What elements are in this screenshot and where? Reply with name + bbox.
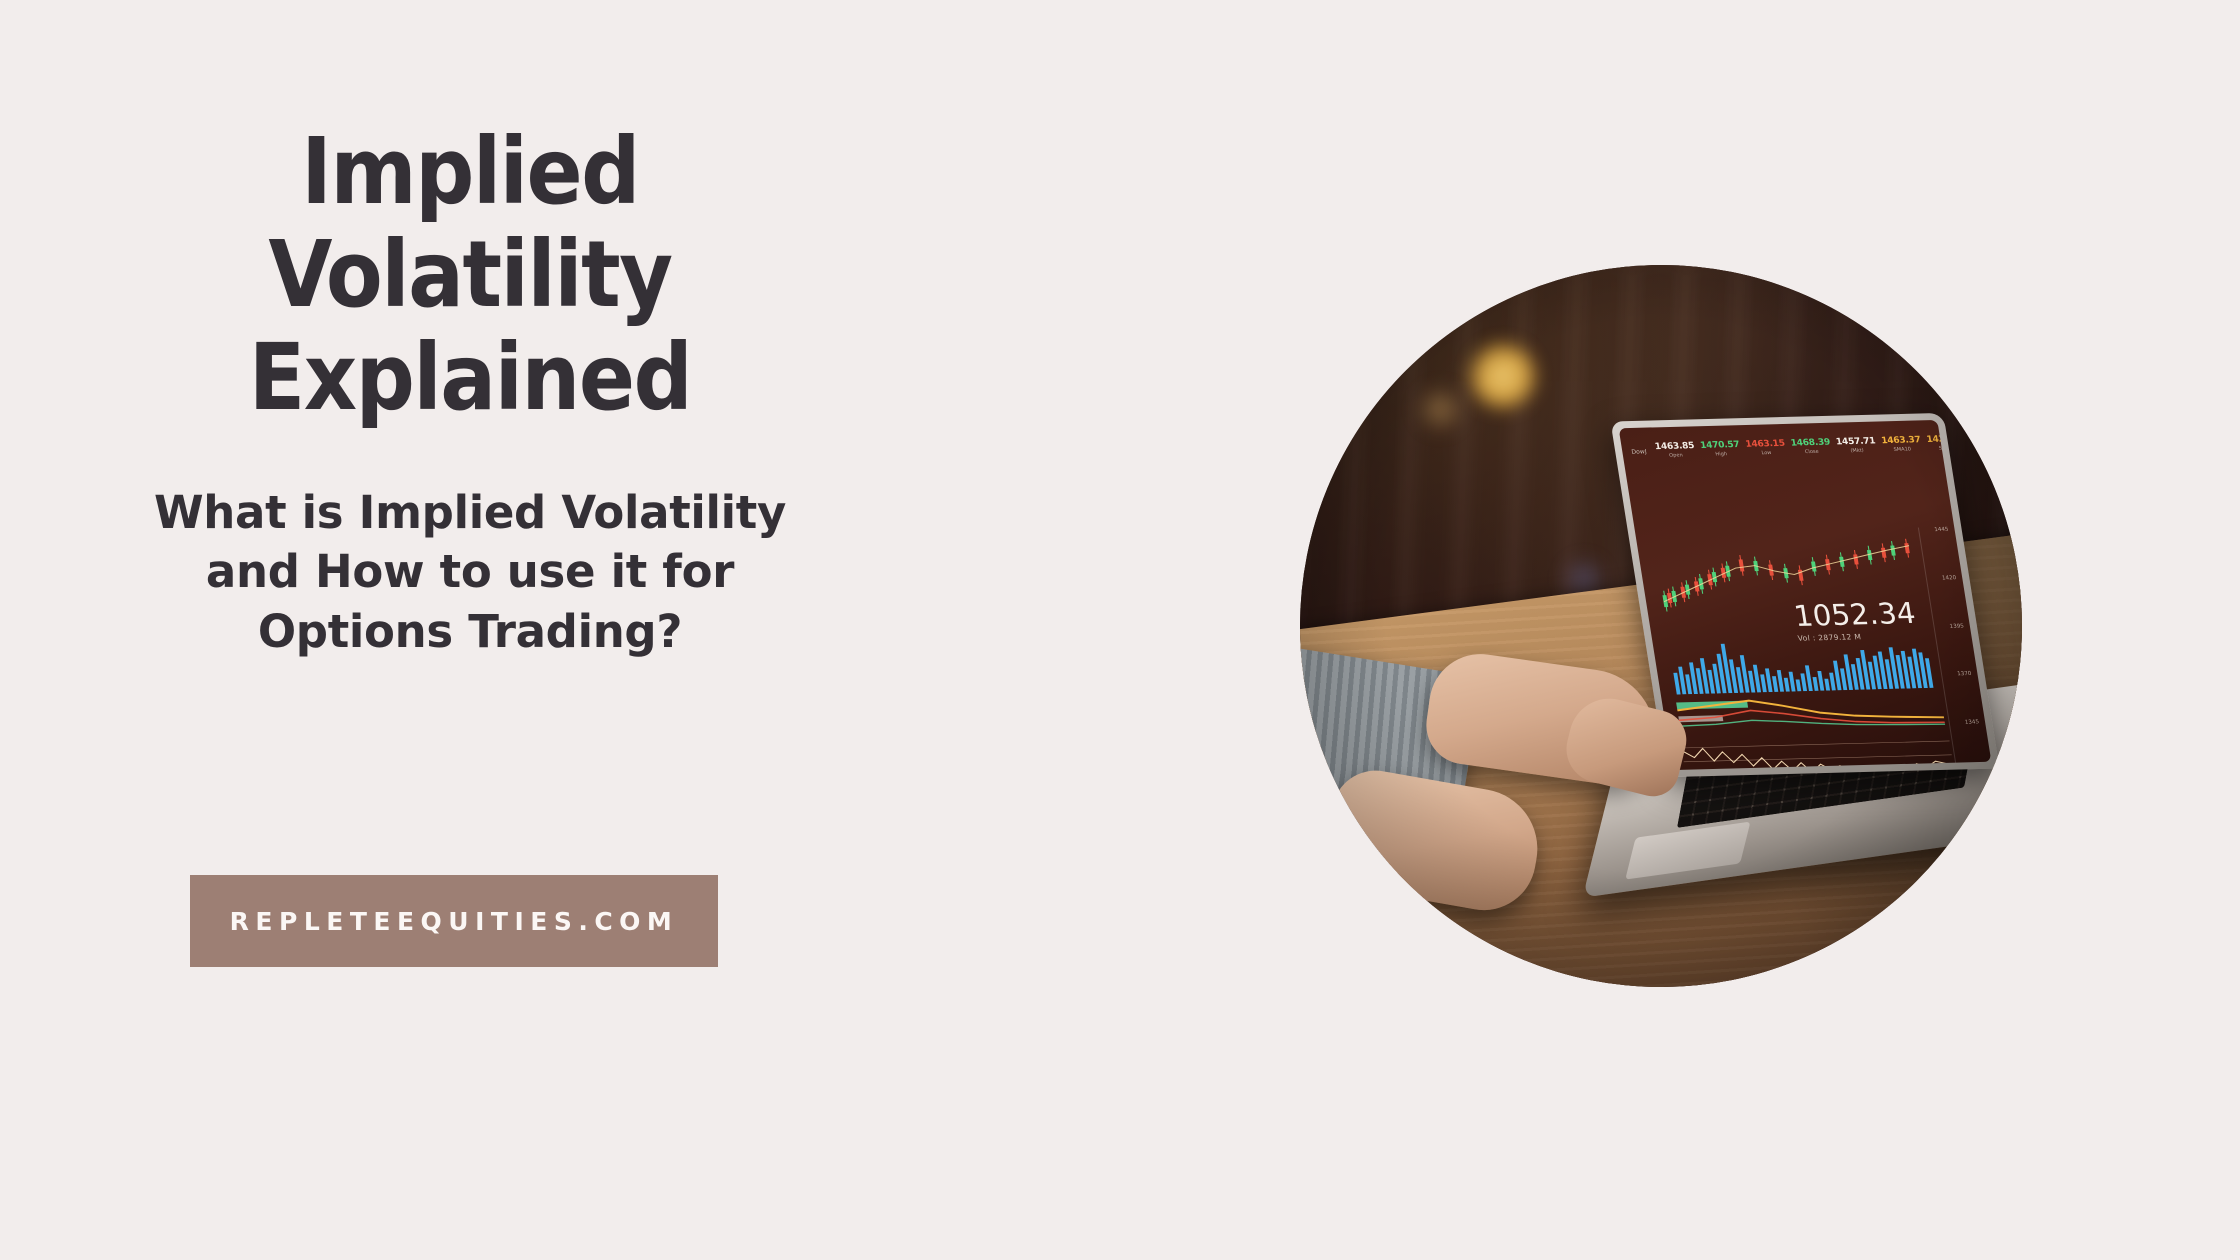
hero-photo-circle: DowJ 1463.85 Open 1470.57 High 1463.15 L… xyxy=(1300,265,2022,987)
ticker-value: 1463.15 xyxy=(1745,440,1786,450)
ticker-value: 1457.71 xyxy=(1835,437,1876,447)
ticker-value: 1463.37 xyxy=(1881,436,1922,446)
ticker-label: (Mkt) xyxy=(1850,449,1864,454)
photo-scene: DowJ 1463.85 Open 1470.57 High 1463.15 L… xyxy=(1300,265,2022,987)
ticker-item: 1463.85 Open xyxy=(1654,442,1696,459)
bokeh-light-main xyxy=(1470,343,1536,409)
macd-indicator-panel xyxy=(1673,690,1947,737)
laptop-trackpad[interactable] xyxy=(1625,822,1750,880)
ticker-label: Low xyxy=(1761,451,1772,456)
axis-tick: 1395 xyxy=(1949,623,1964,629)
ticker-item: 1422.49 SMA50 xyxy=(1926,435,1968,452)
ticker-label: High xyxy=(1715,452,1727,457)
page-title-line-2: Explained xyxy=(249,324,692,431)
ticker-value: 1422.49 xyxy=(1926,435,1967,445)
price-readout: 1052.34 Vol : 2879.12 M xyxy=(1792,599,1919,643)
ticker-value: 1463.85 xyxy=(1654,442,1695,452)
axis-tick: 1370 xyxy=(1957,671,1972,677)
axis-tick: 1345 xyxy=(1965,720,1980,726)
page-title-line-1: Implied Volatility xyxy=(268,118,671,328)
ticker-item: 1468.39 Close xyxy=(1790,439,1832,456)
website-cta-bar[interactable]: REPLETEEQUITIES.COM xyxy=(190,875,718,967)
ticker-label: SMA50 xyxy=(1939,446,1957,451)
ticker-value: 1468.39 xyxy=(1790,439,1831,449)
hero-text-column: Implied Volatility Explained What is Imp… xyxy=(110,120,830,661)
ticker-item: 1457.71 (Mkt) xyxy=(1835,437,1877,454)
axis-tick: 1420 xyxy=(1942,575,1957,581)
page-subtitle: What is Implied Volatility and How to us… xyxy=(110,483,830,661)
page-title: Implied Volatility Explained xyxy=(110,120,830,429)
rsi-indicator-panel xyxy=(1680,731,1955,770)
ticker-label: Close xyxy=(1805,450,1820,455)
laptop: DowJ 1463.85 Open 1470.57 High 1463.15 L… xyxy=(1600,415,2020,885)
axis-tick: 1445 xyxy=(1934,527,1949,533)
ticker-item: 1463.15 Low xyxy=(1745,440,1787,457)
ticker-item: 1463.37 SMA10 xyxy=(1881,436,1923,453)
ticker-symbol: DowJ xyxy=(1631,448,1647,455)
ticker-row: DowJ 1463.85 Open 1470.57 High 1463.15 L… xyxy=(1630,436,1930,460)
ticker-item: 1470.57 High xyxy=(1700,441,1742,458)
website-url-label: REPLETEEQUITIES.COM xyxy=(230,907,679,936)
ticker-label: SMA10 xyxy=(1893,447,1911,452)
ticker-value: 1470.57 xyxy=(1700,441,1741,451)
bokeh-light-secondary xyxy=(1416,385,1464,433)
price-value: 1052.34 xyxy=(1792,599,1917,631)
ticker-label: Open xyxy=(1669,453,1683,458)
